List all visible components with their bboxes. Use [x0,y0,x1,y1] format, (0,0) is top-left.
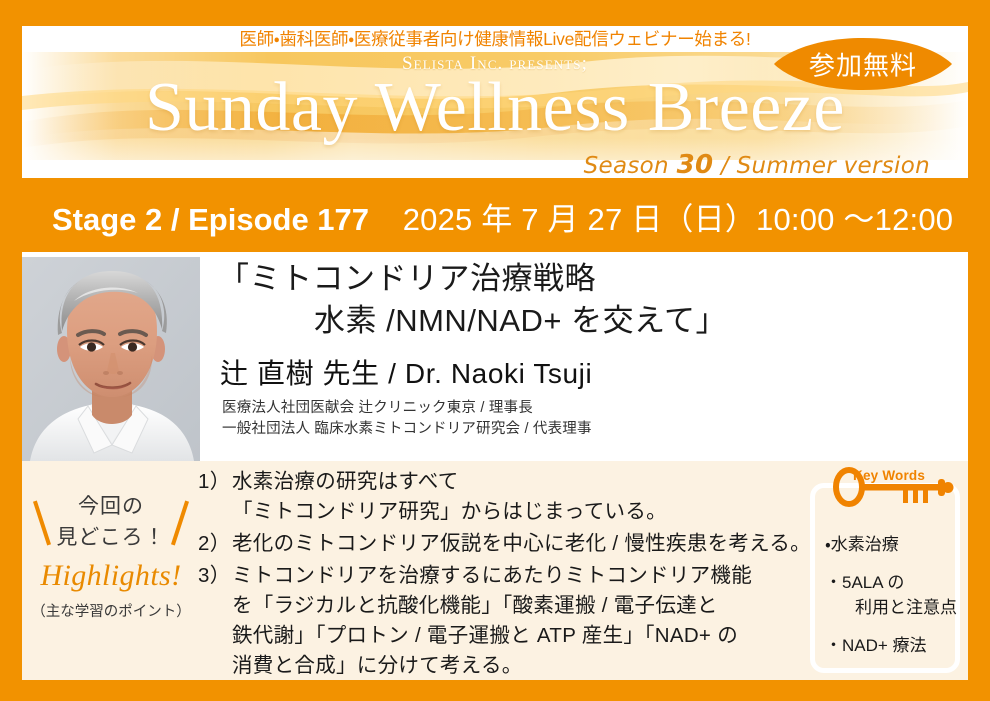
keywords-list: ・水素治療 ・5ALA の 利用と注意点 ・NAD+ 療法 [825,532,949,671]
keywords-caption: Key Words [853,468,925,483]
keyword-item: ・NAD+ 療法 [825,633,949,658]
list-item-line: 消費と合成」に分けて考える。 [232,651,802,681]
list-item: 2） 老化のミトコンドリア仮説を中心に老化 / 慢性疾患を考える。 [198,529,802,559]
highlights-section: 今回の 見どころ！ Highlights! （主な学習のポイント） 1） 水素治… [22,461,968,680]
banner-season: Season 30 / Summer version [584,150,930,178]
keyword-text-continued: 利用と注意点 [825,595,949,620]
keyword-item: ・5ALA の 利用と注意点 [825,570,949,620]
talk-info-section: 「ミトコンドリア治療戦略 水素 /NMN/NAD+ を交えて」 辻 直樹 先生 … [22,252,968,461]
speaker-portrait-image [22,257,200,461]
list-item-text: 老化のミトコンドリア仮説を中心に老化 / 慢性疾患を考える。 [232,529,811,559]
stage-date-text: Stage 2 / Episode 177 2025 年 7 月 27 日（日）… [0,194,953,239]
affiliation-line: 一般社団法人 臨床水素ミトコンドリア研究会 / 代表理事 [222,419,592,440]
webinar-poster: 医師・歯科医師・医療従事者向け健康情報Live配信ウェビナー始まる! Selis… [0,0,990,701]
speaker-photo [22,257,200,461]
talk-title: 「ミトコンドリア治療戦略 水素 /NMN/NAD+ を交えて」 [218,258,958,342]
list-item-text: ミトコンドリアを治療するにあたりミトコンドリア機能 を「ラジカルと抗酸化機能」「… [232,561,802,681]
keyword-text: ・水素治療 [825,535,899,554]
list-item-line: 鉄代謝」「プロトン / 電子運搬と ATP 産生」「NAD+ の [232,621,802,651]
stage-date-bar: Stage 2 / Episode 177 2025 年 7 月 27 日（日）… [0,180,990,252]
list-item: 3） ミトコンドリアを治療するにあたりミトコンドリア機能 を「ラジカルと抗酸化機… [198,561,802,681]
highlights-label-block: 今回の 見どころ！ Highlights! （主な学習のポイント） [26,491,196,621]
free-badge-label: 参加無料 [774,46,952,83]
keyword-text: ・5ALA の [825,573,904,592]
highlights-list: 1） 水素治療の研究はすべて 「ミトコンドリア研究」からはじまっている。 2） … [198,467,802,683]
list-item-number: 2） [198,529,232,559]
list-item-line: を「ラジカルと抗酸化機能」「酸素運搬 / 電子伝達と [232,591,802,621]
season-prefix: Season [584,153,669,178]
talk-title-line2: 水素 /NMN/NAD+ を交えて」 [218,300,958,342]
list-item: 1） 水素治療の研究はすべて 「ミトコンドリア研究」からはじまっている。 [198,467,802,527]
free-participation-badge: 参加無料 [774,38,952,90]
affiliation-line: 医療法人社団医献会 辻クリニック東京 / 理事長 [222,398,592,419]
datetime-label: 2025 年 7 月 27 日（日）10:00 〜12:00 [403,202,954,237]
list-item-line: 「ミトコンドリア研究」からはじまっている。 [232,497,802,527]
season-suffix: / Summer version [721,153,930,178]
keyword-item: ・水素治療 [825,532,949,557]
season-number: 30 [677,150,714,178]
speaker-affiliations: 医療法人社団医献会 辻クリニック東京 / 理事長 一般社団法人 臨床水素ミトコン… [222,398,592,440]
speaker-name: 辻 直樹 先生 / Dr. Naoki Tsuji [220,352,592,392]
list-item-number: 1） [198,467,232,527]
stage-episode-label: Stage 2 / Episode 177 [52,202,369,237]
highlights-label-jp-line2: 見どころ！ [26,522,196,553]
highlights-label-en: Highlights! [26,559,196,593]
list-item-number: 3） [198,561,232,681]
list-item-line: 老化のミトコンドリア仮説を中心に老化 / 慢性疾患を考える。 [232,529,811,559]
header-banner: 医師・歯科医師・医療従事者向け健康情報Live配信ウェビナー始まる! Selis… [22,26,968,178]
list-item-line: ミトコンドリアを治療するにあたりミトコンドリア機能 [232,561,802,591]
highlights-label-jp: 今回の 見どころ！ [26,491,196,553]
keyword-text: ・NAD+ 療法 [825,636,927,655]
keywords-panel: Key Words ・水素治療 ・5ALA の 利用と注意点 ・NAD+ 療法 [810,483,960,673]
list-item-line: 水素治療の研究はすべて [232,467,802,497]
list-item-text: 水素治療の研究はすべて 「ミトコンドリア研究」からはじまっている。 [232,467,802,527]
highlights-label-jp-line1: 今回の [26,491,196,522]
talk-title-line1: 「ミトコンドリア治療戦略 [218,261,596,296]
highlights-label-sub: （主な学習のポイント） [26,600,196,621]
